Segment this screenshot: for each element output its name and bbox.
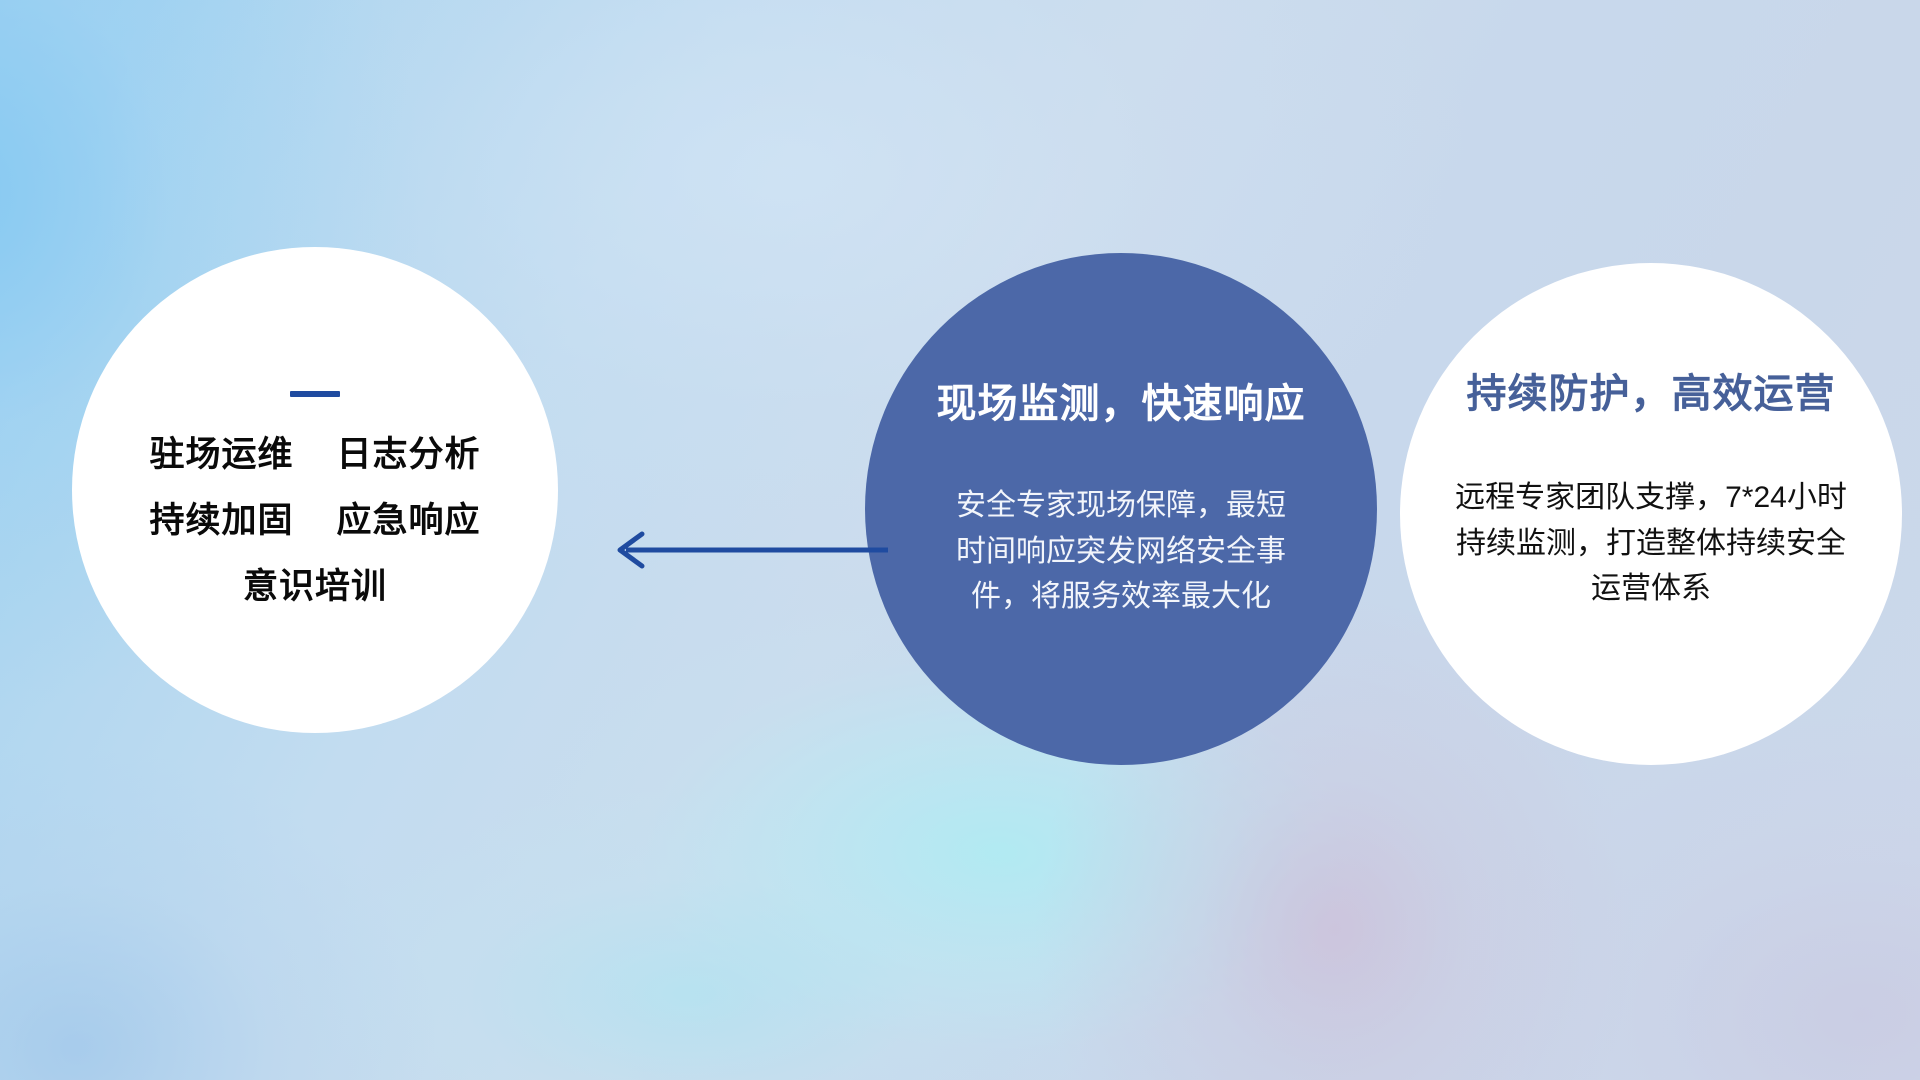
onsite-monitoring-circle[interactable]: 现场监测，快速响应 安全专家现场保障，最短时间响应突发网络安全事件，将服务效率最… xyxy=(865,253,1377,765)
services-row: 意识培训 xyxy=(150,569,481,604)
remote-title: 持续防护，高效运营 xyxy=(1467,361,1836,419)
onsite-description: 安全专家现场保障，最短时间响应突发网络安全事件，将服务效率最大化 xyxy=(956,483,1286,620)
services-row: 驻场运维 日志分析 xyxy=(150,437,481,472)
remote-description: 远程专家团队支撑，7*24小时持续监测，打造整体持续安全运营体系 xyxy=(1451,475,1851,612)
services-row: 持续加固 应急响应 xyxy=(150,503,481,538)
services-circle[interactable]: 驻场运维 日志分析 持续加固 应急响应 意识培训 xyxy=(72,247,558,733)
accent-dash-icon xyxy=(290,391,340,397)
flow-arrow-icon xyxy=(600,520,890,580)
remote-operations-circle[interactable]: 持续防护，高效运营 远程专家团队支撑，7*24小时持续监测，打造整体持续安全运营… xyxy=(1400,263,1902,765)
slide-canvas: 驻场运维 日志分析 持续加固 应急响应 意识培训 现场监测，快速响应 安全专家现… xyxy=(0,0,1920,1080)
onsite-title: 现场监测，快速响应 xyxy=(937,371,1306,429)
services-list: 驻场运维 日志分析 持续加固 应急响应 意识培训 xyxy=(150,437,481,604)
